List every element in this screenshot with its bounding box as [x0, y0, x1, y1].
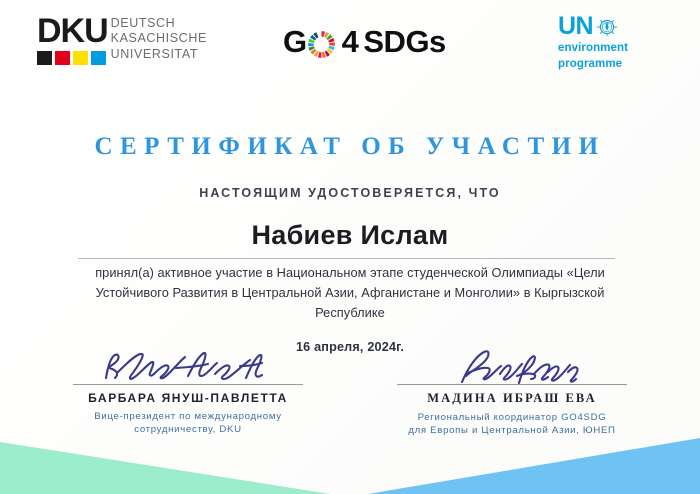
dku-square-yellow	[73, 51, 88, 65]
certificate-subtitle: НАСТОЯЩИМ УДОСТОВЕРЯЕТСЯ, ЧТО	[0, 186, 700, 200]
decorative-ribbon	[0, 436, 700, 494]
signatory-role-right-line1: Региональный координатор GO4SDG	[372, 411, 652, 424]
dku-square-red	[55, 51, 70, 65]
dku-text-line2: KASACHISCHE	[111, 31, 207, 46]
certificate-body-text: принял(а) активное участие в Национально…	[60, 263, 640, 323]
signatory-name-left: БАРБАРА ЯНУШ-ПАВЛЕТТА	[48, 391, 328, 405]
dku-text-line3: UNIVERSITAT	[111, 47, 207, 62]
dku-square-black	[37, 51, 52, 65]
unep-subtitle-line2: programme	[558, 57, 628, 71]
dku-wordmark: DKU	[37, 14, 108, 48]
signatory-role-left-line2: сотрудничеству, DKU	[48, 423, 328, 436]
dku-text-line1: DEUTSCH	[111, 16, 207, 31]
divider-rule	[78, 258, 615, 259]
certificate-page: DKU DEUTSCH KASACHISCHE UNIVERSITAT G	[0, 0, 700, 494]
recipient-name: Набиев Ислам	[0, 220, 700, 251]
unep-logo: UN	[558, 14, 628, 71]
un-environment-emblem-icon	[596, 16, 618, 38]
signatory-role-left-line1: Вице-президент по международному	[48, 410, 328, 423]
signature-block-right: МАДИНА ИБРАШ ЕВА Региональный координато…	[372, 348, 652, 437]
go4sdgs-number: 4	[342, 24, 359, 60]
go4sdgs-prefix: G	[283, 24, 307, 60]
sdg-color-wheel-icon	[308, 30, 335, 57]
logo-row: DKU DEUTSCH KASACHISCHE UNIVERSITAT G	[0, 0, 700, 88]
dku-square-blue	[91, 51, 106, 65]
dku-logo: DKU DEUTSCH KASACHISCHE UNIVERSITAT	[37, 14, 207, 65]
signature-block-left: БАРБАРА ЯНУШ-ПАВЛЕТТА Вице-президент по …	[48, 348, 328, 436]
unep-logo-top: UN	[558, 14, 628, 39]
go4sdgs-suffix: SDGs	[363, 24, 445, 60]
dku-logo-left: DKU	[37, 14, 108, 65]
certificate-title: СЕРТИФИКАТ ОБ УЧАСТИИ	[0, 133, 700, 161]
signatory-name-right: МАДИНА ИБРАШ ЕВА	[372, 391, 652, 406]
signature-mark-madina	[372, 348, 652, 384]
dku-color-squares	[37, 51, 108, 65]
unep-wordmark: UN	[558, 14, 593, 39]
signature-mark-barbara	[48, 348, 328, 384]
go4sdgs-logo: G	[283, 24, 446, 60]
dku-logo-text: DEUTSCH KASACHISCHE UNIVERSITAT	[111, 16, 207, 62]
unep-subtitle-line1: environment	[558, 41, 628, 55]
